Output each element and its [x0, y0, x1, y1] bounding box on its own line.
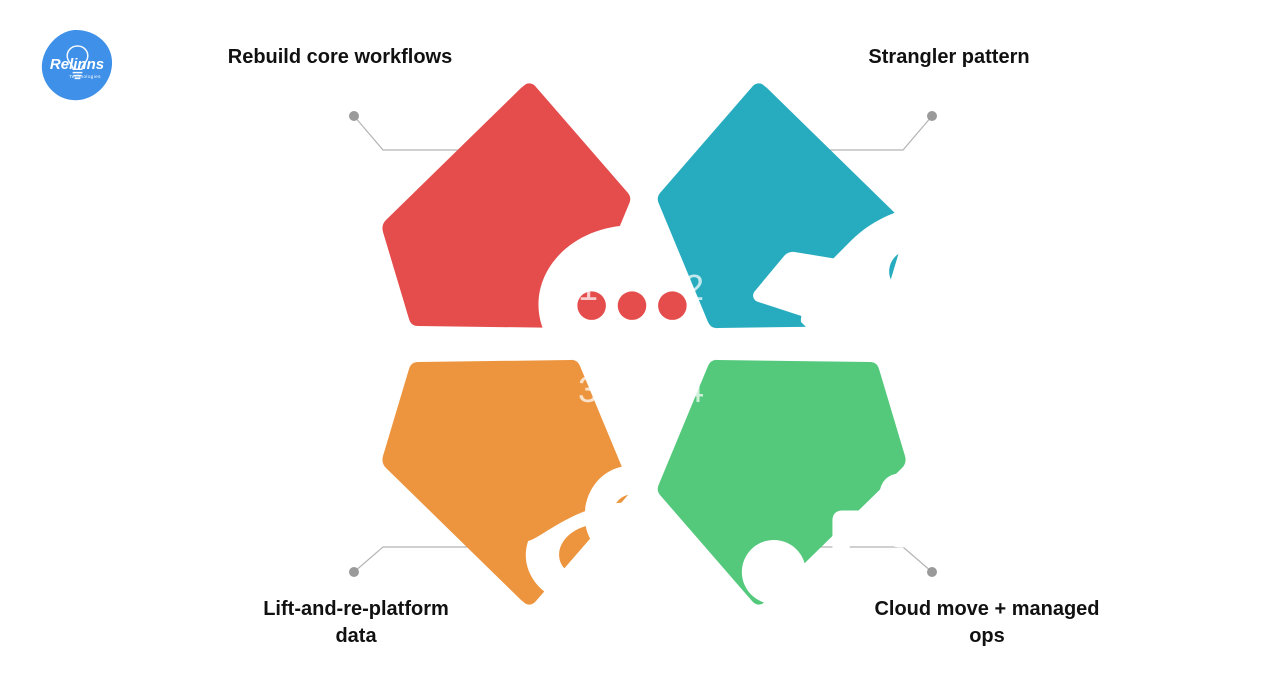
pentagon-tile-2[interactable]: 2 [654, 80, 910, 336]
chat-bubble-icon [504, 186, 556, 238]
pentagon-tile-4[interactable]: 4 [654, 352, 910, 608]
tile-caption-1: Rebuild core workflows [225, 44, 455, 71]
tile-number-4: 4 [684, 372, 705, 408]
tile-caption-2: Strangler pattern [834, 44, 1064, 71]
tile-number-2: 2 [684, 270, 705, 306]
pentagon-tile-3[interactable]: 3 [378, 352, 634, 608]
tile-number-1: 1 [578, 270, 599, 306]
tile-caption-4: Cloud move + managed ops [872, 596, 1102, 650]
tile-number-3: 3 [578, 372, 599, 408]
tile-caption-3: Lift-and-re-platform data [241, 596, 471, 650]
spiral-pinwheel-icon [504, 444, 556, 496]
rocket-icon [732, 186, 784, 238]
diagram-canvas: 1 2 [0, 0, 1288, 686]
connector-dot-2 [927, 111, 937, 121]
pentagon-tile-1[interactable]: 1 [378, 80, 634, 336]
sitemap-icon [732, 444, 784, 496]
connector-dot-3 [349, 567, 359, 577]
connector-dot-1 [349, 111, 359, 121]
